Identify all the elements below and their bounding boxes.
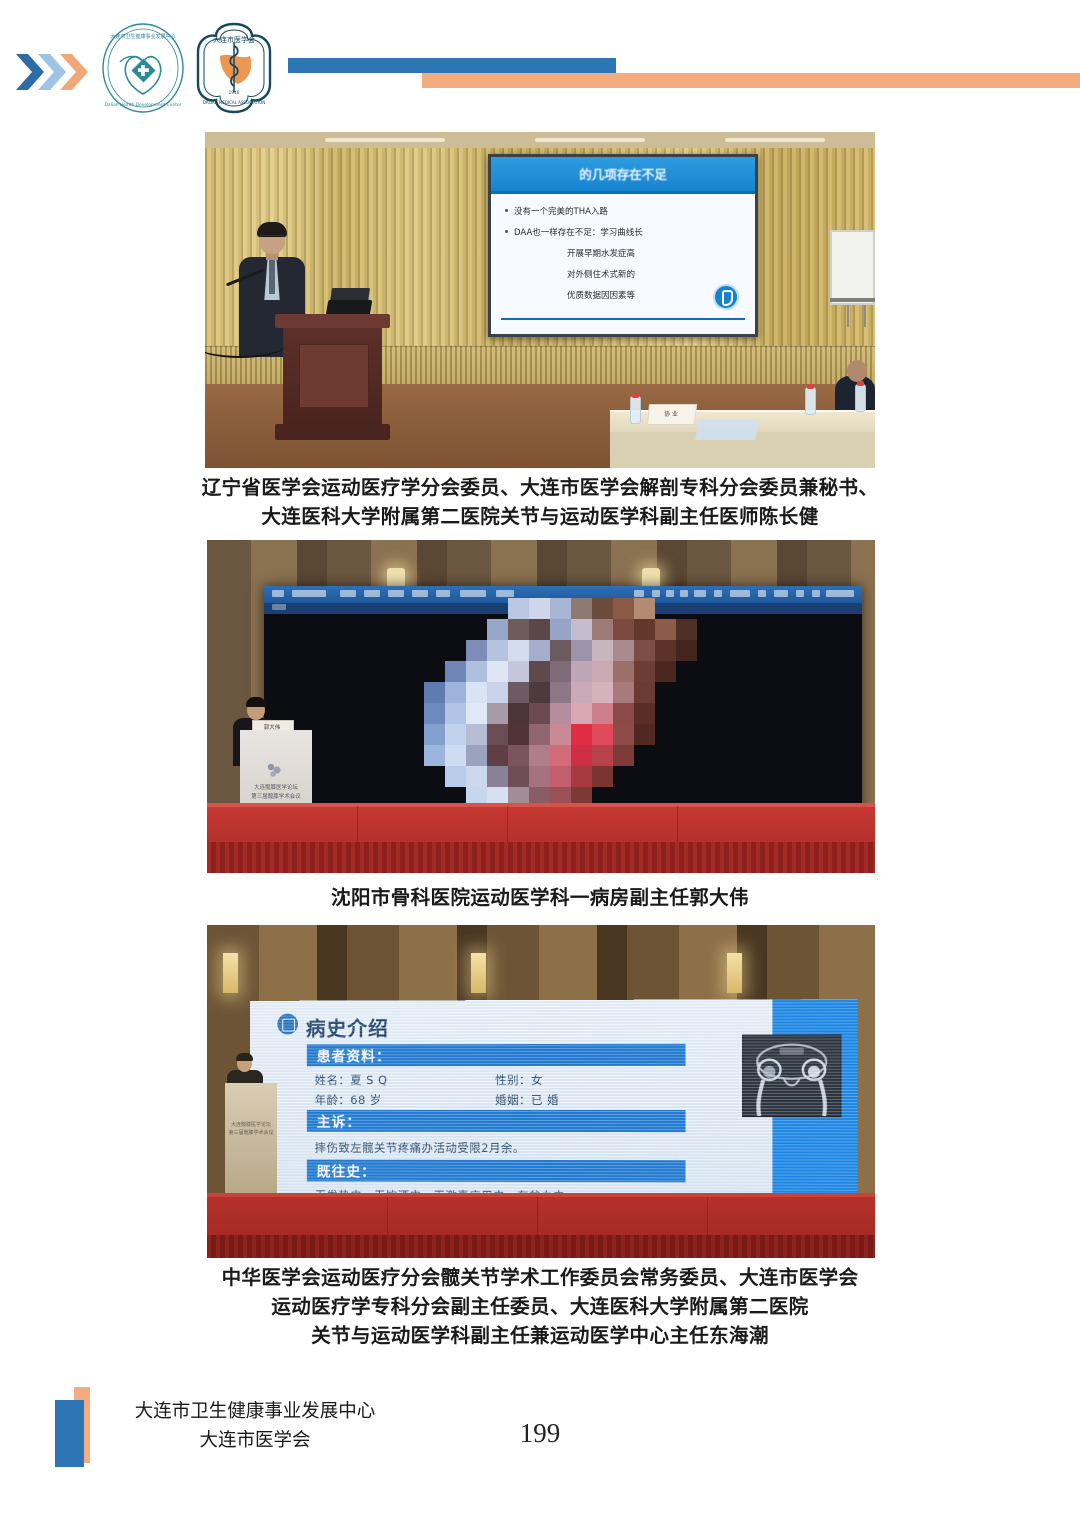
stage-platform: [207, 1193, 875, 1238]
projection-screen: 的几项存在不足 没有一个完美的THA入路 DAA也一样存在不足：学习曲线长 开展…: [488, 154, 758, 337]
caption-1: 辽宁省医学会运动医疗学分会委员、大连市医学会解剖专科分会委员兼秘书、 大连医科大…: [0, 474, 1080, 532]
speaker-tie: [269, 260, 275, 294]
svg-text:DALIAN MEDICAL ASSOCIATION: DALIAN MEDICAL ASSOCIATION: [203, 100, 266, 105]
svg-text:大连市卫生健康事业发展中心: 大连市卫生健康事业发展中心: [110, 33, 175, 40]
dalian-health-development-center-seal-icon: 大连市卫生健康事业发展中心 Dalian Health Development …: [100, 22, 186, 114]
wall-sconce: [727, 953, 742, 993]
water-bottle: [855, 384, 866, 412]
arthroscopy-image-pixelated: [382, 598, 802, 811]
photo-case-slide: 病史介绍 患者资料： 姓名：夏 S Q 年龄：68 岁 住院时间：101天 性别…: [207, 925, 875, 1258]
page-number: 199: [0, 1418, 1080, 1449]
xray-side-marker: R: [757, 1062, 761, 1069]
svg-text:Dalian Health Development Cent: Dalian Health Development Center: [105, 102, 182, 108]
ceiling-light-strip: [535, 138, 645, 142]
speaker-glasses: [260, 235, 284, 241]
whiteboard-leg: [847, 305, 849, 327]
pelvis-xray-image: R: [742, 1034, 841, 1117]
svg-text:1946: 1946: [229, 90, 240, 95]
led-wall-screen: 病史介绍 患者资料： 姓名：夏 S Q 年龄：68 岁 住院时间：101天 性别…: [250, 999, 858, 1201]
stage-edge: [207, 803, 875, 807]
field-name: 姓名：夏 S Q: [315, 1072, 388, 1088]
slide-title: 病史介绍: [306, 1012, 389, 1041]
stage-skirt: [207, 1235, 875, 1258]
name-card-label: 协 业: [649, 409, 693, 418]
header-accent-bar-orange: [422, 73, 1080, 88]
header-accent-bar-blue: [288, 58, 616, 73]
speaker-hair: [246, 697, 266, 707]
chief-complaint-text: 摔伤致左髋关节疼痛办活动受限2月余。: [315, 1140, 525, 1156]
slide-badge-icon: [277, 1014, 298, 1035]
slide-title: 的几项存在不足: [491, 164, 755, 183]
hospital-emblem-icon: [713, 284, 739, 310]
caption-line: 辽宁省医学会运动医疗学分会委员、大连市医学会解剖专科分会委员兼秘书、: [0, 474, 1080, 503]
seated-attendee-head: [847, 360, 867, 382]
water-bottle: [630, 396, 641, 424]
caption-line: 大连医科大学附属第二医院关节与运动医学科副主任医师陈长健: [0, 503, 1080, 532]
wall-sconce: [223, 953, 238, 993]
ceiling-light-strip: [325, 138, 445, 142]
slide-bullet: 优质数据因因素等: [505, 289, 745, 301]
field-gender: 性别：女: [495, 1072, 543, 1088]
slide-bullet: 没有一个完美的THA入路: [505, 205, 745, 217]
caption-line: 关节与运动医学科副主任兼运动医学中心主任东海潮: [0, 1322, 1080, 1351]
page-header: 大连市卫生健康事业发展中心 Dalian Health Development …: [0, 0, 1080, 112]
triple-chevron-right-icon: [14, 52, 94, 94]
stage-edge: [207, 1193, 875, 1197]
presentation-slide: 的几项存在不足 没有一个完美的THA入路 DAA也一样存在不足：学习曲线长 开展…: [491, 157, 755, 334]
section-header-chief-complaint: 主诉：: [307, 1110, 686, 1132]
field-marital-status: 婚姻：已 婚: [495, 1092, 559, 1108]
podium-forum-title: 大连髋膝医学论坛 第三届髋膝学术会议: [242, 784, 310, 802]
dalian-medical-association-seal-icon: 大连市医学会 1946 DALIAN MEDICAL ASSOCIATION: [190, 22, 278, 114]
section-header-past-history: 既往史：: [307, 1160, 686, 1183]
svg-text:大连市医学会: 大连市医学会: [213, 35, 255, 44]
ceiling-light-strip: [725, 138, 825, 142]
table-documents: [695, 420, 759, 440]
led-wall-screen: [264, 586, 862, 811]
lectern: [275, 314, 390, 444]
whiteboard-tray: [830, 298, 875, 302]
whiteboard: [830, 230, 875, 305]
stage-skirt: [207, 842, 875, 873]
photo-lecture-hall: 的几项存在不足 没有一个完美的THA入路 DAA也一样存在不足：学习曲线长 开展…: [205, 132, 875, 468]
wall-sconce: [471, 953, 486, 993]
caption-line: 中华医学会运动医疗分会髋关节学术工作委员会常务委员、大连市医学会: [0, 1264, 1080, 1293]
whiteboard-leg: [864, 305, 866, 327]
caption-2: 沈阳市骨科医院运动医学科一病房副主任郭大伟: [0, 884, 1080, 913]
slide-footer-rule: [501, 318, 745, 320]
slide-bullet: 开展早期水发症高: [505, 247, 745, 259]
chevron-right-icon-orange: [58, 52, 88, 92]
podium: [225, 1083, 277, 1195]
caption-3: 中华医学会运动医疗分会髋关节学术工作委员会常务委员、大连市医学会 运动医疗学专科…: [0, 1264, 1080, 1351]
forum-logo-icon: [265, 762, 285, 778]
photo-stage-led: 郭大伟 大连髋膝医学论坛 第三届髋膝学术会议: [207, 540, 875, 873]
case-history-slide: 病史介绍 患者资料： 姓名：夏 S Q 年龄：68 岁 住院时间：101天 性别…: [250, 999, 858, 1201]
stage-platform: [207, 803, 875, 845]
podium-forum-title: 大连髋膝医学论坛 第三届髋膝学术会议: [225, 1121, 277, 1137]
slide-bullet: 对外侧住术式新的: [505, 268, 745, 280]
water-bottle: [805, 387, 816, 415]
speaker-hair: [236, 1053, 253, 1061]
caption-line: 沈阳市骨科医院运动医学科一病房副主任郭大伟: [0, 884, 1080, 913]
section-header-patient-info: 患者资料：: [307, 1044, 686, 1066]
slide-bullet-list: 没有一个完美的THA入路 DAA也一样存在不足：学习曲线长 开展早期水发症高 对…: [505, 205, 745, 310]
field-age: 年龄：68 岁: [315, 1092, 382, 1108]
lectern-top: [275, 314, 390, 328]
caption-line: 运动医疗学专科分会副主任委员、大连医科大学附属第二医院: [0, 1293, 1080, 1322]
slide-bullet: DAA也一样存在不足：学习曲线长: [505, 226, 745, 238]
lectern-base: [275, 424, 390, 440]
slide-rule: [491, 191, 755, 194]
lectern-panel: [299, 344, 369, 408]
